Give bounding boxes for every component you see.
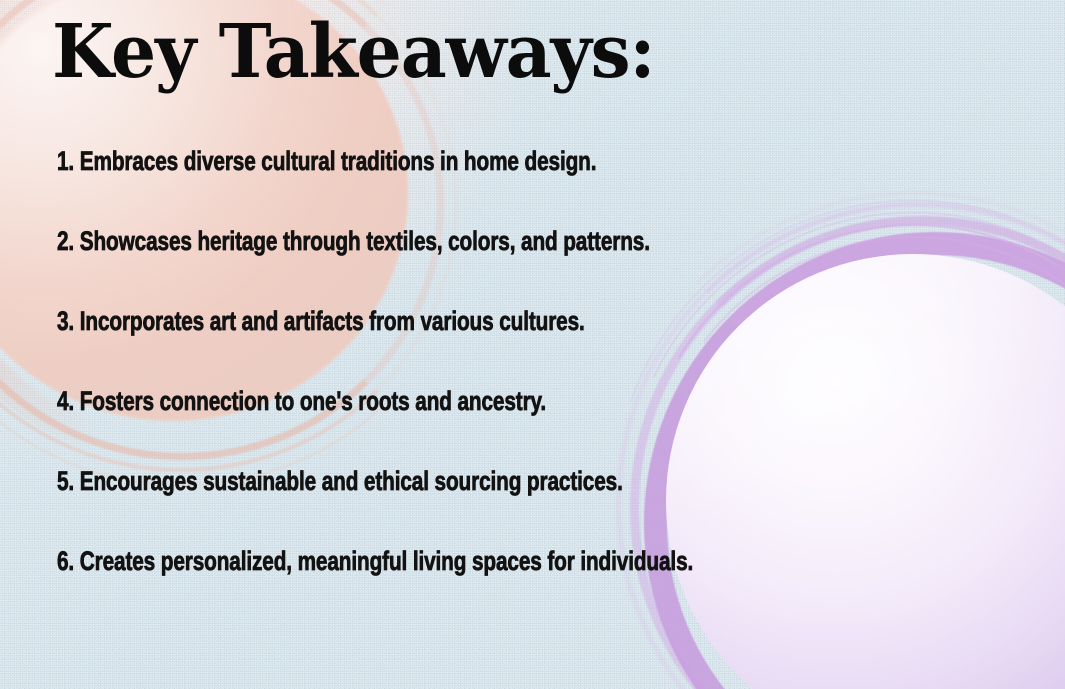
list-item: 5. Encourages sustainable and ethical so… <box>57 468 1017 548</box>
takeaway-text: 5. Encourages sustainable and ethical so… <box>57 468 623 495</box>
list-item: 6. Creates personalized, meaningful livi… <box>57 548 1017 628</box>
takeaway-text: 1. Embraces diverse cultural traditions … <box>57 148 596 175</box>
takeaway-text: 3. Incorporates art and artifacts from v… <box>57 308 585 335</box>
list-item: 1. Embraces diverse cultural traditions … <box>57 148 1017 228</box>
page-title: Key Takeaways: <box>52 14 654 92</box>
takeaway-text: 2. Showcases heritage through textiles, … <box>57 228 650 255</box>
list-item: 2. Showcases heritage through textiles, … <box>57 228 1017 308</box>
takeaways-list: 1. Embraces diverse cultural traditions … <box>57 148 1017 628</box>
list-item: 3. Incorporates art and artifacts from v… <box>57 308 1017 388</box>
takeaway-text: 4. Fosters connection to one's roots and… <box>57 388 546 415</box>
list-item: 4. Fosters connection to one's roots and… <box>57 388 1017 468</box>
takeaway-text: 6. Creates personalized, meaningful livi… <box>57 548 693 575</box>
key-takeaways-slide: Key Takeaways: 1. Embraces diverse cultu… <box>0 0 1065 689</box>
slide-content: Key Takeaways: 1. Embraces diverse cultu… <box>0 0 1065 689</box>
